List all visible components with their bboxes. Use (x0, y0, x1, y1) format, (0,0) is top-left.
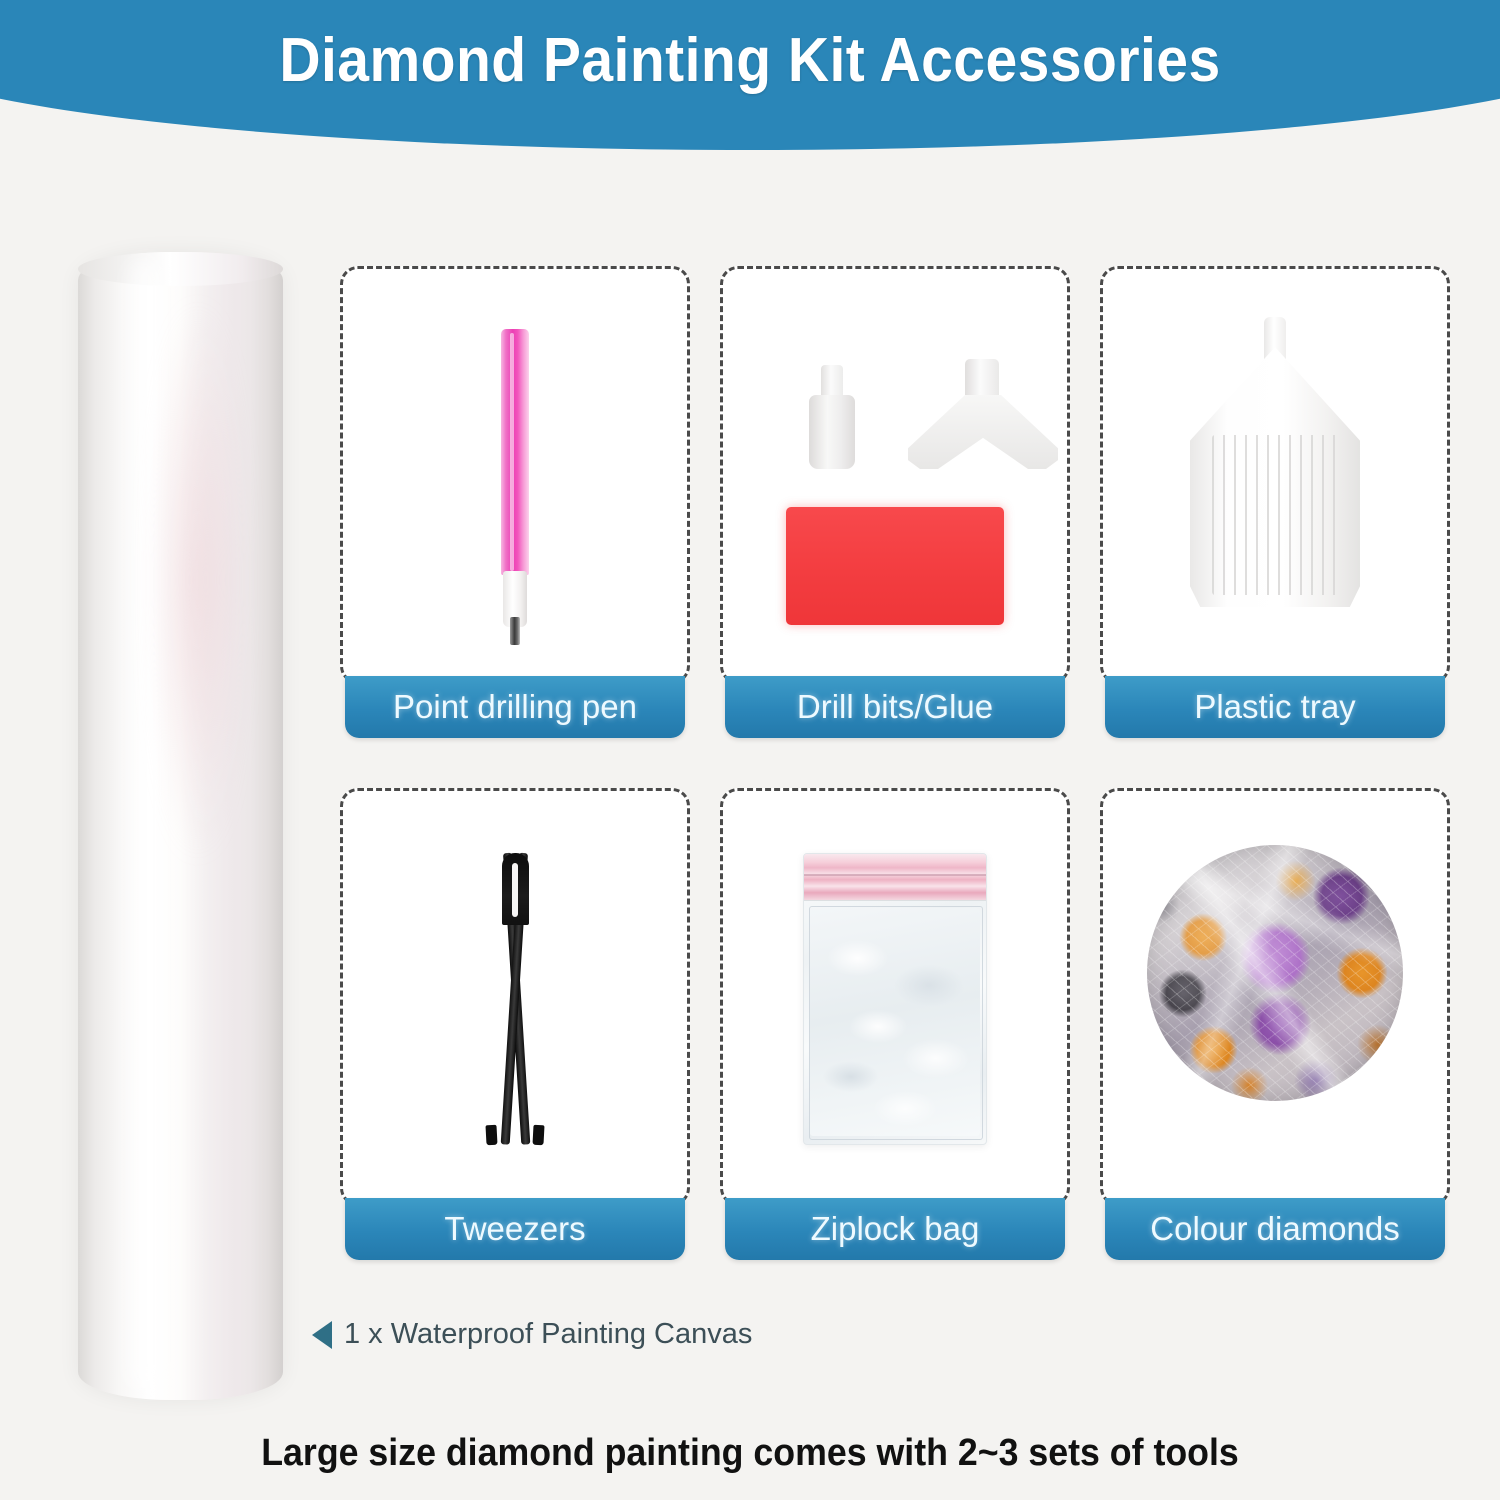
tip-body (908, 395, 1058, 469)
drilling-pen-icon (495, 329, 535, 629)
accessories-grid: Point drilling pen (340, 266, 1450, 1260)
infographic-canvas: Diamond Painting Kit Accessories Point d… (0, 0, 1500, 1500)
glue-block-icon (786, 507, 1004, 625)
bag-gloss-overlay (1147, 845, 1403, 1101)
card-ziplock-bag[interactable]: Ziplock bag (720, 788, 1070, 1260)
card-label-drill-bits-glue: Drill bits/Glue (725, 676, 1065, 738)
tweezer-hinge (502, 853, 529, 925)
single-placer-tip-icon (809, 365, 855, 469)
pen-barrel (501, 329, 529, 575)
card-label-ziplock-bag: Ziplock bag (725, 1198, 1065, 1260)
canvas-note-label: 1 x Waterproof Painting Canvas (344, 1318, 752, 1351)
card-drill-bits-glue[interactable]: Drill bits/Glue (720, 266, 1070, 738)
ziplock-illustration (723, 791, 1067, 1203)
drill-bits-illustration (723, 269, 1067, 681)
tweezer-tip-right (532, 1125, 544, 1146)
bag-outline (809, 906, 983, 1140)
bag-zipper-seal (804, 854, 986, 901)
card-label-plastic-tray: Plastic tray (1105, 676, 1445, 738)
card-tweezers[interactable]: Tweezers (340, 788, 690, 1260)
card-image-area (720, 266, 1070, 684)
tip-neck (965, 359, 999, 399)
card-image-area (340, 788, 690, 1206)
card-label-colour-diamonds: Colour diamonds (1105, 1198, 1445, 1260)
card-colour-diamonds[interactable]: Colour diamonds (1100, 788, 1450, 1260)
card-point-drilling-pen[interactable]: Point drilling pen (340, 266, 690, 738)
plastic-tray-icon (1190, 317, 1360, 607)
card-image-area (720, 788, 1070, 1206)
card-label-point-drilling-pen: Point drilling pen (345, 676, 685, 738)
triangle-left-icon (312, 1321, 332, 1349)
card-label-tweezers: Tweezers (345, 1198, 685, 1260)
tray-grooves (1212, 435, 1338, 595)
tweezers-illustration (343, 791, 687, 1203)
colour-diamonds-photo (1147, 845, 1403, 1101)
footer-caption: Large size diamond painting comes with 2… (45, 1432, 1455, 1475)
canvas-note: 1 x Waterproof Painting Canvas (312, 1318, 752, 1351)
pen-metal-tip (510, 617, 520, 645)
tip-body (809, 395, 855, 469)
pen-tips-group (723, 349, 1067, 469)
card-plastic-tray[interactable]: Plastic tray (1100, 266, 1450, 738)
pen-illustration (343, 269, 687, 681)
tray-illustration (1103, 269, 1447, 681)
tweezer-tip-left (485, 1125, 497, 1146)
card-image-area (1100, 788, 1450, 1206)
tweezers-icon (475, 853, 555, 1145)
tip-neck (821, 365, 843, 399)
card-image-area (340, 266, 690, 684)
canvas-roll-tint (150, 300, 245, 860)
diamonds-illustration (1103, 791, 1447, 1203)
card-image-area (1100, 266, 1450, 684)
header-banner: Diamond Painting Kit Accessories (0, 0, 1500, 150)
multi-placer-tip-icon (908, 359, 1058, 469)
canvas-roll-top-edge (78, 252, 283, 286)
ziplock-bag-icon (803, 853, 987, 1145)
page-title: Diamond Painting Kit Accessories (60, 0, 1440, 120)
